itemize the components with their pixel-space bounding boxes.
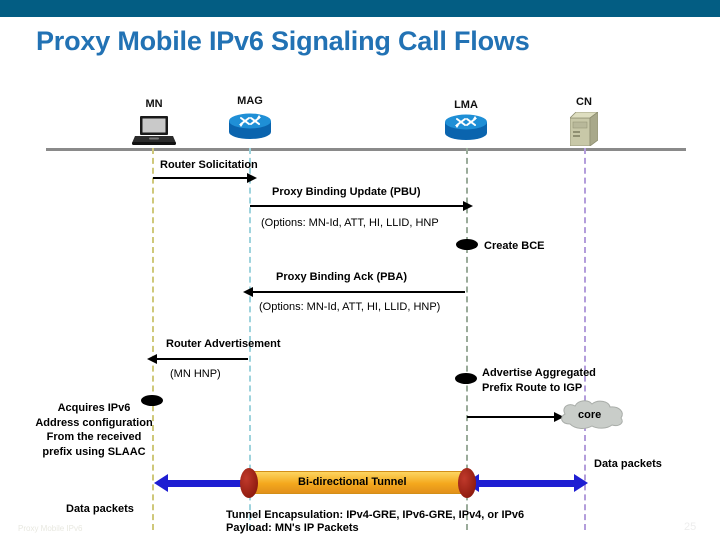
tunnel-encapsulation-line: Tunnel Encapsulation: IPv4-GRE, IPv6-GRE… [226,509,524,521]
core-cloud-label: core [578,409,601,421]
message-label-router-solicitation: Router Solicitation [160,159,258,171]
annotation-advertise-prefix-line1: Advertise Aggregated [482,366,596,381]
message-note-mn-hnp: (MN HNP) [170,368,221,380]
router-icon-lma [444,113,488,141]
page-number: 25 [684,521,696,533]
annotation-slaac-line4: prefix using SLAAC [18,445,170,460]
annotation-advertise-prefix-line2: Prefix Route to IGP [482,381,596,396]
label-data-packets-right: Data packets [594,458,662,470]
event-marker-create-bce [456,239,478,250]
message-arrow-router-advertisement [156,358,248,360]
lifeline-mn [152,148,154,530]
tunnel-endpoint-mag [240,468,258,498]
label-data-packets-left: Data packets [66,503,134,515]
server-icon [570,112,598,146]
page-title: Proxy Mobile IPv6 Signaling Call Flows [36,26,530,57]
message-note-pbu-options: (Options: MN-Id, ATT, HI, LLID, HNP [261,217,439,229]
laptop-icon [132,114,176,146]
tunnel-payload-line: Payload: MN's IP Packets [226,522,359,534]
annotation-slaac-line3: From the received [18,430,170,445]
message-arrow-pbu [250,205,464,207]
message-arrow-router-solicitation [153,177,248,179]
message-arrow-pba [252,291,465,293]
message-label-pba: Proxy Binding Ack (PBA) [276,271,407,283]
router-icon-mag [228,112,272,140]
node-label-mag: MAG [228,95,272,107]
tunnel-label: Bi-directional Tunnel [298,476,407,488]
message-label-pbu: Proxy Binding Update (PBU) [272,186,421,198]
footer-text: Proxy Mobile IPv6 [18,524,82,533]
node-label-mn: MN [134,98,174,110]
top-accent-bar [0,0,720,17]
annotation-slaac-line2: Address configuration [18,416,170,431]
lifeline-cn [584,148,586,530]
node-label-lma: LMA [444,99,488,111]
data-arrow-mn-mag [167,480,245,487]
data-arrow-lma-cn [478,480,575,487]
event-marker-advertise-prefix [455,373,477,384]
arrow-to-core [467,416,555,418]
node-label-cn: CN [564,96,604,108]
annotation-create-bce: Create BCE [484,240,545,252]
message-label-router-advertisement: Router Advertisement [166,338,281,350]
tunnel-endpoint-lma [458,468,476,498]
slide-canvas: Proxy Mobile IPv6 Signaling Call Flows M… [0,0,720,540]
message-note-pba-options: (Options: MN-Id, ATT, HI, LLID, HNP) [259,301,440,313]
horizontal-bus-line [46,148,686,151]
annotation-slaac-line1: Acquires IPv6 [18,401,170,416]
